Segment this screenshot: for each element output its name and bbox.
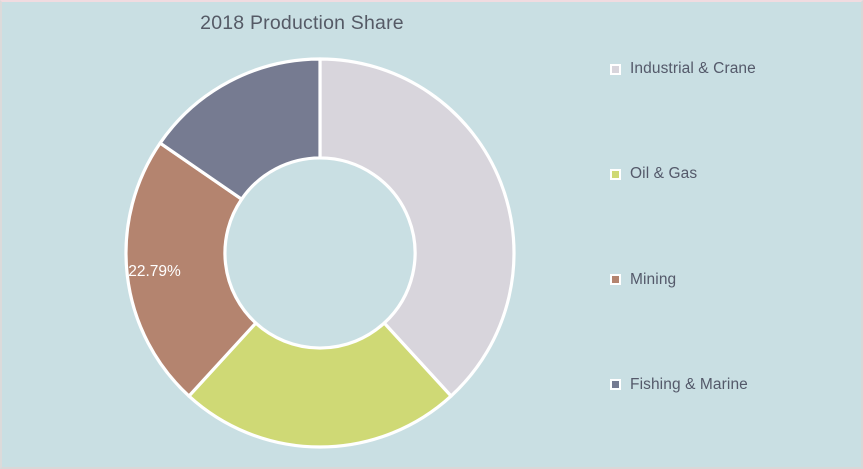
slice-data-label: 22.79% — [128, 263, 181, 280]
slice-group — [126, 59, 514, 447]
legend-label-mining: Mining — [630, 271, 676, 289]
legend-item-fishing-marine[interactable]: Fishing & Marine — [610, 373, 858, 397]
legend-item-mining[interactable]: Mining — [610, 268, 858, 292]
legend-label-oil-gas: Oil & Gas — [630, 165, 697, 183]
legend-marker-oil-gas — [610, 169, 621, 180]
legend-label-industrial-crane: Industrial & Crane — [630, 60, 756, 78]
legend-marker-industrial-crane — [610, 64, 621, 75]
legend-label-fishing-marine: Fishing & Marine — [630, 376, 748, 394]
chart-legend: Industrial & Crane Oil & Gas Mining Fish… — [610, 57, 858, 397]
legend-marker-fishing-marine — [610, 379, 621, 390]
chart-canvas: 2018 Production Share 22.79% Industrial … — [0, 0, 863, 469]
donut-chart: 22.79% — [2, 2, 602, 469]
donut-chart-svg: 22.79% — [2, 2, 602, 469]
legend-item-oil-gas[interactable]: Oil & Gas — [610, 162, 858, 186]
data-label-group: 22.79% — [128, 263, 181, 280]
legend-marker-mining — [610, 274, 621, 285]
legend-item-industrial-crane[interactable]: Industrial & Crane — [610, 57, 858, 81]
